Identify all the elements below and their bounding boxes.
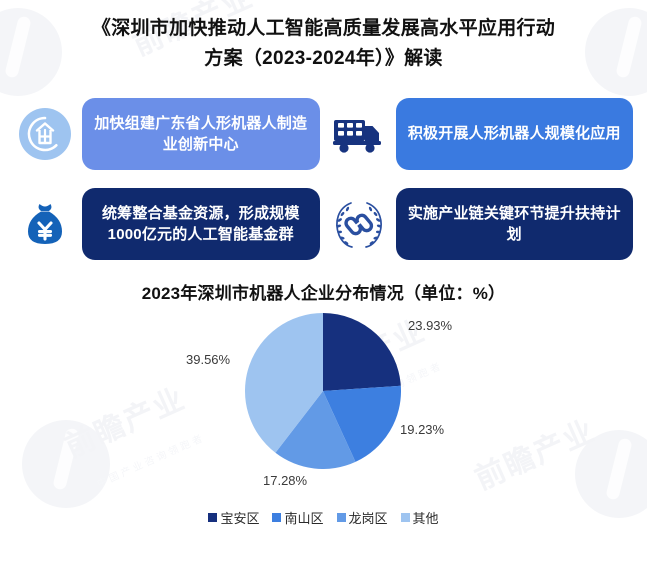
page-title: 《深圳市加快推动人工智能高质量发展高水平应用行动 方案（2023-2024年）》… [0, 0, 647, 80]
legend-item-longgang[interactable]: 龙岗区 [337, 508, 388, 527]
pie-canvas [245, 313, 401, 469]
legend-swatch-icon [272, 513, 281, 522]
legend-item-baoan[interactable]: 宝安区 [208, 508, 259, 527]
highlight-card-3-text: 统筹整合基金资源，形成规模1000亿元的人工智能基金群 [92, 203, 310, 245]
pie-label-longgang: 17.28% [263, 473, 307, 488]
enterprise-circle-icon [14, 103, 76, 165]
highlight-card-1-text: 加快组建广东省人形机器人制造业创新中心 [92, 113, 310, 155]
page-title-line-2: 方案（2023-2024年）》解读 [58, 44, 589, 74]
highlight-card-2-box[interactable]: 积极开展人形机器人规模化应用 [396, 98, 634, 170]
highlight-card-4[interactable]: 实施产业链关键环节提升扶持计划 [328, 181, 634, 267]
highlight-card-1-box[interactable]: 加快组建广东省人形机器人制造业创新中心 [82, 98, 320, 170]
highlight-card-3-box[interactable]: 统筹整合基金资源，形成规模1000亿元的人工智能基金群 [82, 188, 320, 260]
pie-chart: 23.93% 19.23% 17.28% 39.56% [0, 310, 647, 510]
legend-swatch-icon [401, 513, 410, 522]
legend-label: 其他 [413, 508, 439, 527]
legend-item-nanshan[interactable]: 南山区 [272, 508, 323, 527]
page-title-line-1: 《深圳市加快推动人工智能高质量发展高水平应用行动 [58, 14, 589, 44]
legend-item-other[interactable]: 其他 [401, 508, 439, 527]
pie-slice-宝安区[interactable] [323, 313, 401, 391]
legend-label: 宝安区 [220, 508, 259, 527]
legend-label: 南山区 [284, 508, 323, 527]
highlight-card-2[interactable]: 积极开展人形机器人规模化应用 [328, 92, 634, 175]
highlight-card-2-text: 积极开展人形机器人规模化应用 [408, 123, 621, 144]
legend-swatch-icon [337, 513, 346, 522]
chart-legend: 宝安区 南山区 龙岗区 其他 [0, 508, 647, 527]
highlight-card-1[interactable]: 加快组建广东省人形机器人制造业创新中心 [14, 92, 320, 175]
legend-label: 龙岗区 [349, 508, 388, 527]
money-bag-yuan-icon [14, 193, 76, 255]
pie-label-nanshan: 19.23% [400, 422, 444, 437]
chart-section: 2023年深圳市机器人企业分布情况（单位：%） 23.93% 19.23% 17… [0, 279, 647, 527]
legend-swatch-icon [208, 513, 217, 522]
pie-label-baoan: 23.93% [408, 318, 452, 333]
chart-title: 2023年深圳市机器人企业分布情况（单位：%） [0, 279, 647, 304]
highlight-card-4-text: 实施产业链关键环节提升扶持计划 [406, 203, 624, 245]
delivery-truck-icon [328, 103, 390, 165]
pie-label-other: 39.56% [186, 352, 230, 367]
highlight-card-4-box[interactable]: 实施产业链关键环节提升扶持计划 [396, 188, 634, 260]
highlight-card-3[interactable]: 统筹整合基金资源，形成规模1000亿元的人工智能基金群 [14, 181, 320, 267]
chain-link-laurel-icon [328, 193, 390, 255]
highlight-cards-grid: 加快组建广东省人形机器人制造业创新中心 积极开展人形机器人规模化应用 [0, 92, 647, 267]
